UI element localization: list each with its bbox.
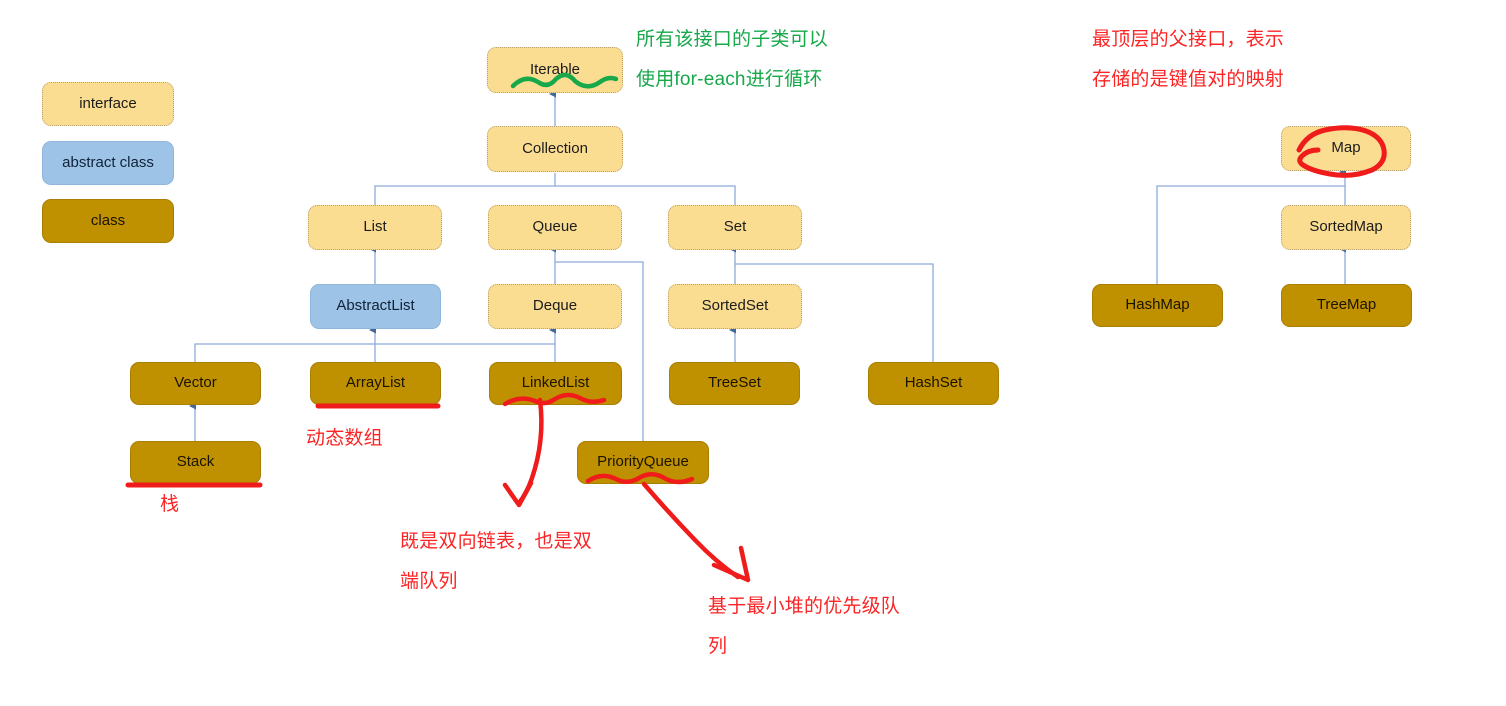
node-sortedset[interactable]: SortedSet: [668, 284, 802, 329]
node-arraylist-label: ArrayList: [346, 375, 405, 392]
annotation-arraylist: 动态数组: [306, 423, 383, 455]
node-queue[interactable]: Queue: [488, 205, 622, 250]
annotation-map-line2: 存储的是键值对的映射: [1092, 64, 1284, 96]
node-map[interactable]: Map: [1281, 126, 1411, 171]
node-arraylist[interactable]: ArrayList: [310, 362, 441, 405]
node-stack[interactable]: Stack: [130, 441, 261, 484]
node-collection-label: Collection: [522, 141, 588, 158]
node-list[interactable]: List: [308, 205, 442, 250]
node-vector[interactable]: Vector: [130, 362, 261, 405]
annotation-iterable-line2: 使用for-each进行循环: [636, 64, 823, 96]
annotation-iterable-line1: 所有该接口的子类可以: [636, 24, 828, 56]
node-vector-label: Vector: [174, 375, 217, 392]
node-queue-label: Queue: [532, 219, 577, 236]
node-deque[interactable]: Deque: [488, 284, 622, 329]
node-priorityqueue-label: PriorityQueue: [597, 454, 689, 471]
node-priorityqueue[interactable]: PriorityQueue: [577, 441, 709, 484]
node-treemap[interactable]: TreeMap: [1281, 284, 1412, 327]
annotation-map-line1: 最顶层的父接口，表示: [1092, 24, 1284, 56]
diagram-canvas: interface abstract class class Iterable …: [0, 0, 1506, 706]
legend-interface-label: interface: [79, 96, 137, 113]
node-sortedmap-label: SortedMap: [1309, 219, 1382, 236]
node-iterable-label: Iterable: [530, 62, 580, 79]
node-iterable[interactable]: Iterable: [487, 47, 623, 93]
node-map-label: Map: [1331, 140, 1360, 157]
node-sortedset-label: SortedSet: [702, 298, 769, 315]
node-hashmap-label: HashMap: [1125, 297, 1189, 314]
legend-interface: interface: [42, 82, 174, 126]
node-hashset-label: HashSet: [905, 375, 963, 392]
node-hashset[interactable]: HashSet: [868, 362, 999, 405]
annotation-priorityqueue-line1: 基于最小堆的优先级队: [708, 591, 900, 623]
node-abstractlist[interactable]: AbstractList: [310, 284, 441, 329]
legend-abstract-class-label: abstract class: [62, 155, 154, 172]
node-treeset[interactable]: TreeSet: [669, 362, 800, 405]
node-linkedlist[interactable]: LinkedList: [489, 362, 622, 405]
node-set-label: Set: [724, 219, 747, 236]
node-hashmap[interactable]: HashMap: [1092, 284, 1223, 327]
node-deque-label: Deque: [533, 298, 577, 315]
node-collection[interactable]: Collection: [487, 126, 623, 172]
annotation-stack: 栈: [160, 489, 179, 521]
node-sortedmap[interactable]: SortedMap: [1281, 205, 1411, 250]
annotation-priorityqueue-line2: 列: [708, 631, 727, 663]
node-linkedlist-label: LinkedList: [522, 375, 590, 392]
node-list-label: List: [363, 219, 386, 236]
node-treeset-label: TreeSet: [708, 375, 761, 392]
annotation-linkedlist-line1: 既是双向链表，也是双: [400, 526, 592, 558]
legend-abstract-class: abstract class: [42, 141, 174, 185]
annotation-linkedlist-line2: 端队列: [400, 566, 458, 598]
legend-class-label: class: [91, 213, 125, 230]
legend-class: class: [42, 199, 174, 243]
node-set[interactable]: Set: [668, 205, 802, 250]
node-abstractlist-label: AbstractList: [336, 298, 414, 315]
node-treemap-label: TreeMap: [1317, 297, 1376, 314]
node-stack-label: Stack: [177, 454, 215, 471]
